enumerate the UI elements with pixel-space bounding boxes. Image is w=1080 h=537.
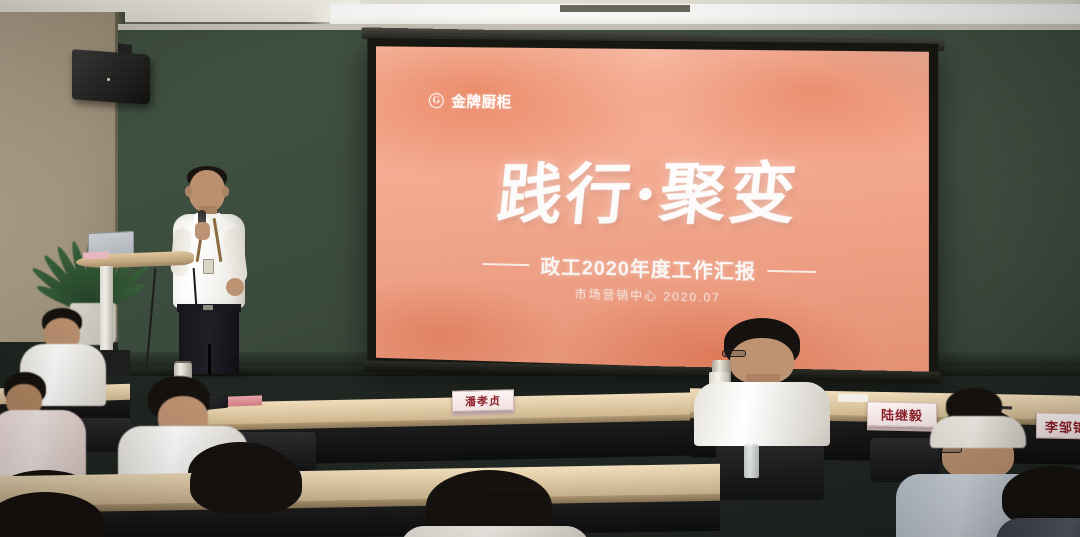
brand-name: 金牌厨柜 [451, 91, 511, 113]
brand-g-icon: G [429, 93, 444, 108]
audience-person-foreground-right [1002, 466, 1080, 537]
audience-head-foreground-c [0, 492, 160, 537]
paper-sheet [838, 394, 868, 403]
presenter-ear-left [185, 186, 192, 197]
presenter-hand-left [195, 222, 210, 240]
ceiling-speaker [72, 49, 150, 104]
slide-subtitle: 政工2020年度工作汇报 [540, 251, 756, 285]
audience-person-glasses-center [694, 318, 830, 444]
slide-title: 践行·聚变 [376, 139, 929, 238]
eyeglasses-icon [722, 350, 746, 357]
presenter-hand-right [226, 278, 244, 296]
desk-papers [83, 251, 109, 259]
presenter [163, 166, 255, 374]
rule-left [483, 263, 530, 266]
presenter-badge [203, 259, 214, 274]
presenter-ear-right [222, 186, 229, 197]
presenter-leg-gap [208, 344, 211, 374]
audience-person-back-right [930, 388, 1026, 444]
ceiling-vent [560, 5, 690, 12]
water-bottle-floor [744, 444, 759, 478]
brand-logo: G 金牌厨柜 [429, 90, 512, 112]
audience-head-foreground-b [400, 470, 590, 537]
projection-screen: G 金牌厨柜 践行·聚变 政工2020年度工作汇报 市场营销中心 2020.07 [367, 38, 938, 384]
name-placard-1: 潘孝贞 [452, 389, 514, 412]
presentation-slide: G 金牌厨柜 践行·聚变 政工2020年度工作汇报 市场营销中心 2020.07 [376, 46, 929, 374]
rule-right [767, 269, 816, 272]
presentation-photo-scene: G 金牌厨柜 践行·聚变 政工2020年度工作汇报 市场营销中心 2020.07 [0, 0, 1080, 537]
audience-head-foreground-a [150, 448, 350, 537]
speaker-led-icon [107, 78, 110, 81]
